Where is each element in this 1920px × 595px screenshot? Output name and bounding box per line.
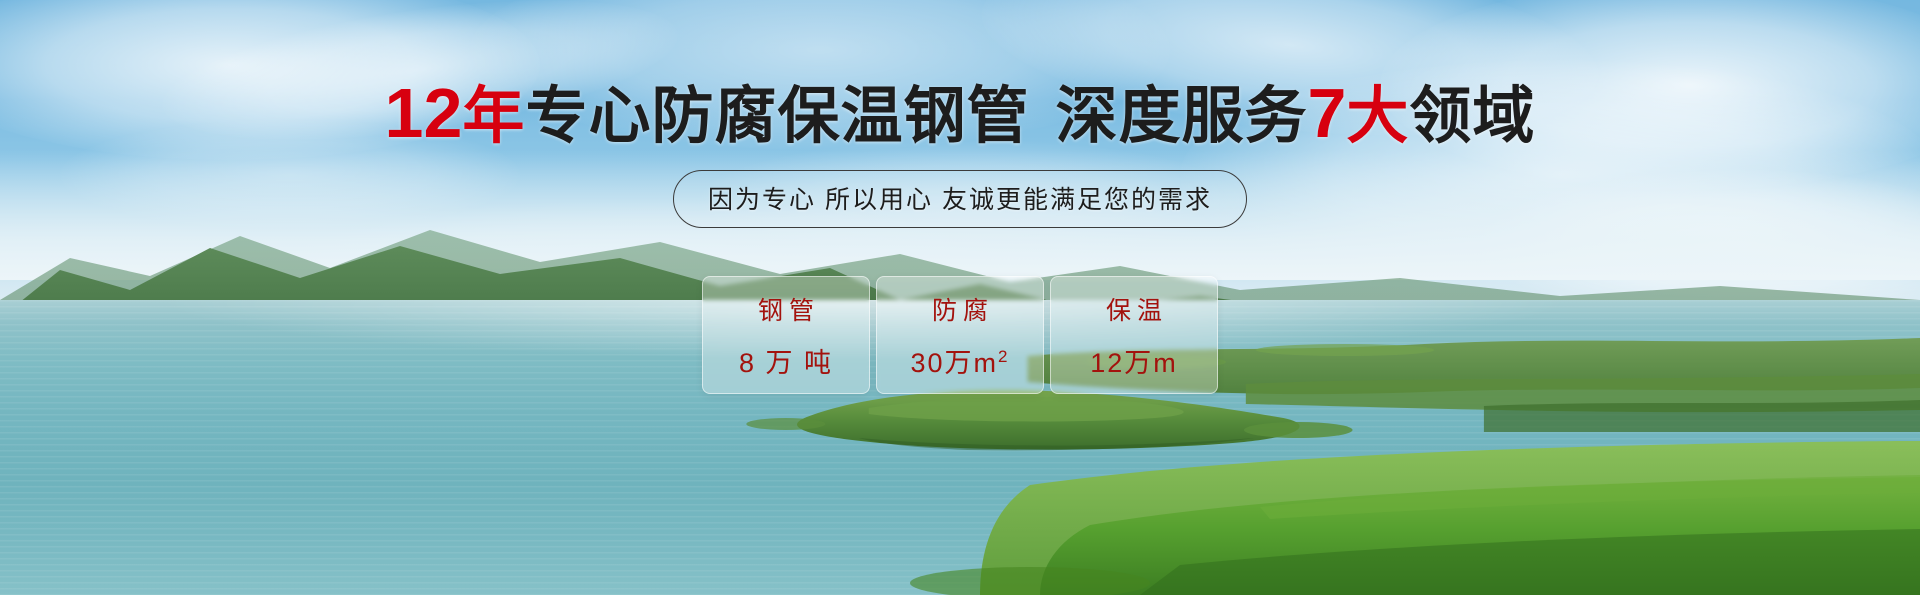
headline-service-text: 深度服务: [1055, 82, 1307, 151]
stat-card-label: 防腐: [926, 291, 994, 327]
stat-card-value: 8 万 吨: [739, 341, 833, 380]
stat-card-label: 钢管: [752, 291, 820, 327]
headline-main-text: 专心防腐保温钢管: [525, 82, 1029, 151]
headline-fields-number: 7: [1307, 74, 1346, 152]
stat-card-label: 保温: [1100, 291, 1168, 327]
subtitle-pill: 因为专心 所以用心 友诚更能满足您的需求: [673, 170, 1247, 228]
stat-value-superscript: 2: [998, 347, 1009, 366]
headline-years-number: 12: [385, 74, 463, 152]
stats-card-group: 钢管 8 万 吨 防腐 30万m2 保温 12万m: [702, 276, 1218, 394]
banner-text-overlay: 12年专心防腐保温钢管深度服务7大领域 因为专心 所以用心 友诚更能满足您的需求…: [0, 0, 1920, 595]
headline-fields-tail: 领域: [1409, 82, 1535, 151]
headline-years-unit: 年: [462, 82, 525, 151]
stat-value-text: 8 万 吨: [739, 348, 833, 378]
hero-banner: 12年专心防腐保温钢管深度服务7大领域 因为专心 所以用心 友诚更能满足您的需求…: [0, 0, 1920, 595]
stat-card-value: 12万m: [1090, 341, 1178, 380]
stat-value-text: 30万m: [911, 348, 999, 378]
stat-value-text: 12万m: [1090, 348, 1178, 378]
headline-fields-unit: 大: [1346, 82, 1409, 151]
stat-card-value: 30万m2: [911, 341, 1010, 380]
stat-card[interactable]: 钢管 8 万 吨: [702, 276, 870, 394]
stat-card[interactable]: 保温 12万m: [1050, 276, 1218, 394]
page-title: 12年专心防腐保温钢管深度服务7大领域: [385, 78, 1536, 148]
stat-card[interactable]: 防腐 30万m2: [876, 276, 1044, 394]
